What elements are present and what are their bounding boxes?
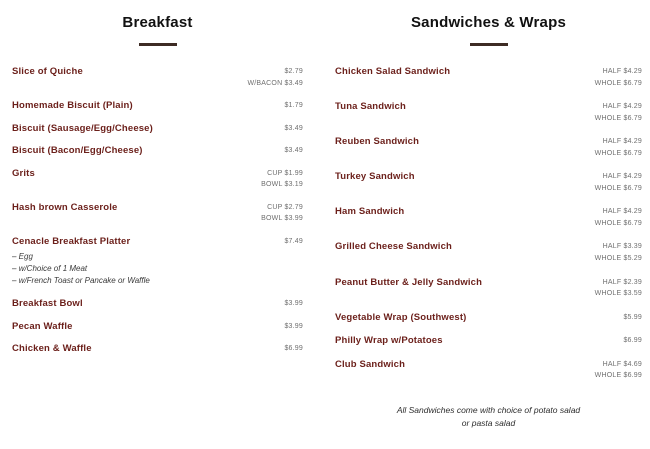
- menu-item-name: Club Sandwich: [335, 359, 585, 370]
- menu-item-prices: $2.79W/BACON $3.49: [237, 66, 303, 89]
- menu-item-name: Chicken & Waffle: [12, 343, 274, 354]
- menu-item-prices: HALF $4.29WHOLE $6.79: [585, 206, 642, 229]
- menu-item-main: Homemade Biscuit (Plain): [12, 100, 274, 111]
- menu-item-main: Grilled Cheese Sandwich: [335, 241, 585, 252]
- menu-item: Biscuit (Bacon/Egg/Cheese)$3.49: [12, 145, 303, 157]
- menu-item-price: $1.79: [284, 100, 303, 112]
- menu-item-prices: HALF $4.29WHOLE $6.79: [585, 136, 642, 159]
- menu-item: Vegetable Wrap (Southwest)$5.99: [335, 312, 642, 324]
- menu-item-name: Slice of Quiche: [12, 66, 237, 77]
- menu-item-price: HALF $4.69: [595, 359, 642, 371]
- section-divider-sandwiches: [470, 43, 508, 46]
- menu-item-price: WHOLE $6.99: [595, 370, 642, 382]
- menu-item-name: Philly Wrap w/Potatoes: [335, 335, 613, 346]
- menu-item-prices: HALF $4.29WHOLE $6.79: [585, 101, 642, 124]
- menu-item-main: Pecan Waffle: [12, 321, 274, 332]
- menu-item-main: Peanut Butter & Jelly Sandwich: [335, 277, 585, 288]
- menu-item-prices: $3.49: [274, 145, 303, 157]
- menu-item-price: HALF $4.29: [595, 171, 642, 183]
- menu-item-price: $7.49: [284, 236, 303, 248]
- menu-item-prices: CUP $2.79BOWL $3.99: [251, 202, 303, 225]
- menu-page: Breakfast Slice of Quiche$2.79W/BACON $3…: [0, 0, 650, 449]
- menu-item-description-line: – w/French Toast or Pancake or Waffle: [12, 275, 274, 287]
- sandwiches-footnote: All Sandwiches come with choice of potat…: [335, 404, 642, 430]
- menu-item-price: HALF $4.29: [595, 206, 642, 218]
- menu-item-name: Homemade Biscuit (Plain): [12, 100, 274, 111]
- menu-item: Slice of Quiche$2.79W/BACON $3.49: [12, 66, 303, 89]
- menu-item-price: BOWL $3.19: [261, 179, 303, 191]
- menu-item-main: Hash brown Casserole: [12, 202, 251, 213]
- menu-item: Tuna SandwichHALF $4.29WHOLE $6.79: [335, 101, 642, 124]
- menu-item-main: Vegetable Wrap (Southwest): [335, 312, 613, 323]
- menu-item: Cenacle Breakfast Platter– Egg– w/Choice…: [12, 236, 303, 287]
- menu-item-main: Biscuit (Bacon/Egg/Cheese): [12, 145, 274, 156]
- menu-item-price: $3.49: [284, 145, 303, 157]
- menu-item-name: Chicken Salad Sandwich: [335, 66, 585, 77]
- section-title-breakfast: Breakfast: [12, 0, 303, 31]
- menu-item: Chicken Salad SandwichHALF $4.29WHOLE $6…: [335, 66, 642, 89]
- menu-item-prices: CUP $1.99BOWL $3.19: [251, 168, 303, 191]
- menu-item: Club SandwichHALF $4.69WHOLE $6.99: [335, 359, 642, 382]
- menu-item-name: Biscuit (Bacon/Egg/Cheese): [12, 145, 274, 156]
- menu-item-name: Tuna Sandwich: [335, 101, 585, 112]
- menu-item: Ham SandwichHALF $4.29WHOLE $6.79: [335, 206, 642, 229]
- menu-item: Pecan Waffle$3.99: [12, 321, 303, 333]
- menu-item-price: WHOLE $6.79: [595, 78, 642, 90]
- menu-item-price: WHOLE $5.29: [595, 253, 642, 265]
- menu-item-price: $3.49: [284, 123, 303, 135]
- menu-item-price: CUP $1.99: [261, 168, 303, 180]
- menu-item-name: Grits: [12, 168, 251, 179]
- menu-item-main: Chicken Salad Sandwich: [335, 66, 585, 77]
- menu-item-price: HALF $3.39: [595, 241, 642, 253]
- menu-item-prices: HALF $4.29WHOLE $6.79: [585, 171, 642, 194]
- menu-item-prices: $7.49: [274, 236, 303, 248]
- menu-item-price: WHOLE $6.79: [595, 148, 642, 160]
- menu-item-main: Slice of Quiche: [12, 66, 237, 77]
- menu-item-price: $3.99: [284, 298, 303, 310]
- menu-item-main: Turkey Sandwich: [335, 171, 585, 182]
- menu-item-name: Biscuit (Sausage/Egg/Cheese): [12, 123, 274, 134]
- menu-item-price: $2.79: [247, 66, 303, 78]
- menu-item: Peanut Butter & Jelly SandwichHALF $2.39…: [335, 277, 642, 300]
- menu-item-price: WHOLE $6.79: [595, 183, 642, 195]
- menu-item-name: Ham Sandwich: [335, 206, 585, 217]
- menu-item-name: Pecan Waffle: [12, 321, 274, 332]
- menu-item-prices: $3.99: [274, 298, 303, 310]
- menu-item-prices: HALF $4.69WHOLE $6.99: [585, 359, 642, 382]
- menu-item-name: Reuben Sandwich: [335, 136, 585, 147]
- menu-item-main: Philly Wrap w/Potatoes: [335, 335, 613, 346]
- menu-item-prices: $3.99: [274, 321, 303, 333]
- menu-item-list-sandwiches: Chicken Salad SandwichHALF $4.29WHOLE $6…: [335, 66, 642, 382]
- menu-item-price: $6.99: [284, 343, 303, 355]
- menu-item-prices: $3.49: [274, 123, 303, 135]
- menu-item: Biscuit (Sausage/Egg/Cheese)$3.49: [12, 123, 303, 135]
- menu-item-prices: HALF $3.39WHOLE $5.29: [585, 241, 642, 264]
- menu-item-main: Ham Sandwich: [335, 206, 585, 217]
- menu-item-prices: $1.79: [274, 100, 303, 112]
- menu-item: GritsCUP $1.99BOWL $3.19: [12, 168, 303, 191]
- menu-item-price: CUP $2.79: [261, 202, 303, 214]
- menu-item-main: Grits: [12, 168, 251, 179]
- menu-item-price: $5.99: [623, 312, 642, 324]
- menu-item-price: WHOLE $6.79: [595, 218, 642, 230]
- menu-item-main: Breakfast Bowl: [12, 298, 274, 309]
- menu-item-list-breakfast: Slice of Quiche$2.79W/BACON $3.49Homemad…: [12, 66, 303, 355]
- menu-item-name: Grilled Cheese Sandwich: [335, 241, 585, 252]
- menu-item: Hash brown CasseroleCUP $2.79BOWL $3.99: [12, 202, 303, 225]
- menu-item-main: Reuben Sandwich: [335, 136, 585, 147]
- menu-item-prices: $5.99: [613, 312, 642, 324]
- menu-item-name: Vegetable Wrap (Southwest): [335, 312, 613, 323]
- menu-item-prices: $6.99: [274, 343, 303, 355]
- menu-item-price: BOWL $3.99: [261, 213, 303, 225]
- menu-item-name: Cenacle Breakfast Platter: [12, 236, 274, 247]
- menu-item-price: $3.99: [284, 321, 303, 333]
- menu-item-price: WHOLE $6.79: [595, 113, 642, 125]
- section-divider-breakfast: [139, 43, 177, 46]
- menu-item-main: Club Sandwich: [335, 359, 585, 370]
- menu-item-main: Chicken & Waffle: [12, 343, 274, 354]
- menu-item-price: WHOLE $3.59: [595, 288, 642, 300]
- section-title-sandwiches: Sandwiches & Wraps: [335, 0, 642, 31]
- menu-item: Philly Wrap w/Potatoes$6.99: [335, 335, 642, 347]
- menu-item-main: Biscuit (Sausage/Egg/Cheese): [12, 123, 274, 134]
- menu-item-name: Turkey Sandwich: [335, 171, 585, 182]
- menu-item-description-line: – w/Choice of 1 Meat: [12, 263, 274, 275]
- menu-item-name: Peanut Butter & Jelly Sandwich: [335, 277, 585, 288]
- menu-item: Turkey SandwichHALF $4.29WHOLE $6.79: [335, 171, 642, 194]
- menu-item-price: HALF $4.29: [595, 101, 642, 113]
- menu-column-breakfast: Breakfast Slice of Quiche$2.79W/BACON $3…: [0, 0, 325, 449]
- menu-column-sandwiches: Sandwiches & Wraps Chicken Salad Sandwic…: [325, 0, 650, 449]
- menu-item-price: $6.99: [623, 335, 642, 347]
- menu-item: Chicken & Waffle$6.99: [12, 343, 303, 355]
- menu-item-description: – Egg– w/Choice of 1 Meat– w/French Toas…: [12, 251, 274, 287]
- menu-item-name: Breakfast Bowl: [12, 298, 274, 309]
- menu-item-prices: HALF $2.39WHOLE $3.59: [585, 277, 642, 300]
- menu-item-main: Tuna Sandwich: [335, 101, 585, 112]
- footnote-line: or pasta salad: [335, 417, 642, 430]
- menu-item-prices: HALF $4.29WHOLE $6.79: [585, 66, 642, 89]
- footnote-line: All Sandwiches come with choice of potat…: [335, 404, 642, 417]
- menu-item-description-line: – Egg: [12, 251, 274, 263]
- menu-item-price: HALF $4.29: [595, 66, 642, 78]
- menu-item-price: HALF $4.29: [595, 136, 642, 148]
- menu-item-prices: $6.99: [613, 335, 642, 347]
- menu-item: Grilled Cheese SandwichHALF $3.39WHOLE $…: [335, 241, 642, 264]
- menu-item: Homemade Biscuit (Plain)$1.79: [12, 100, 303, 112]
- menu-item-price: HALF $2.39: [595, 277, 642, 289]
- menu-item: Reuben SandwichHALF $4.29WHOLE $6.79: [335, 136, 642, 159]
- menu-item-main: Cenacle Breakfast Platter– Egg– w/Choice…: [12, 236, 274, 287]
- menu-item: Breakfast Bowl$3.99: [12, 298, 303, 310]
- menu-item-price: W/BACON $3.49: [247, 78, 303, 90]
- menu-item-name: Hash brown Casserole: [12, 202, 251, 213]
